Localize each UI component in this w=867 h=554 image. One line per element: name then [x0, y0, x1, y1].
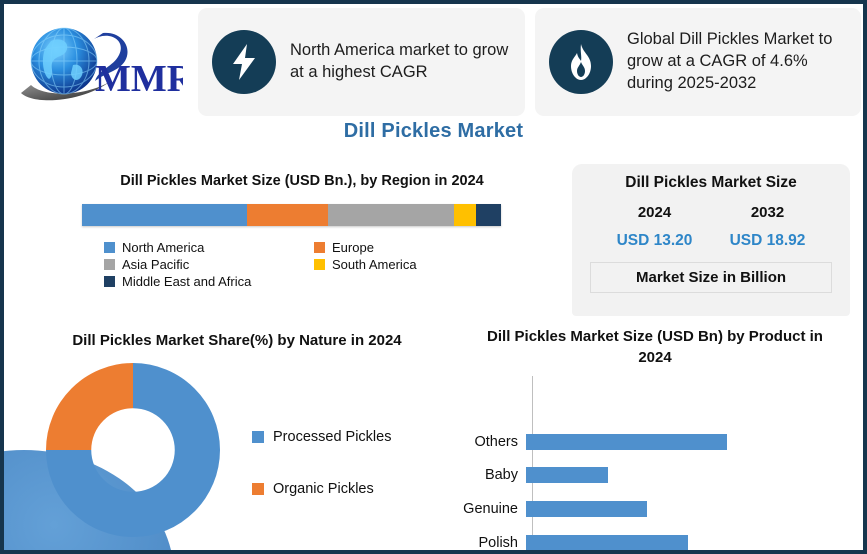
market-size-card: Dill Pickles Market Size 2024 2032 USD 1…: [572, 164, 850, 316]
market-size-unit-note: Market Size in Billion: [590, 262, 832, 293]
header: MMR North America market to grow at a hi…: [10, 8, 861, 116]
bar-segment-south-america: [454, 204, 476, 226]
legend-item-processed-pickles: Processed Pickles: [252, 429, 391, 445]
legend-item-asia-pacific: Asia Pacific: [104, 257, 314, 272]
legend-swatch-organic-pickles: [252, 483, 264, 495]
product-label-polish: Polish: [446, 536, 526, 551]
legend-item-north-america: North America: [104, 240, 314, 255]
product-value-axis: [532, 376, 533, 554]
fact-text-cagr: Global Dill Pickles Market to grow at a …: [627, 29, 849, 94]
region-chart-title: Dill Pickles Market Size (USD Bn.), by R…: [56, 172, 548, 192]
market-size-values: USD 13.20 USD 18.92: [572, 232, 850, 250]
market-size-card-title: Dill Pickles Market Size: [572, 174, 850, 192]
product-bar-genuine: [526, 501, 647, 517]
legend-label-north-america: North America: [122, 240, 204, 255]
product-bar-others: [526, 434, 727, 450]
donut-slice-organic-pickles: [46, 363, 133, 450]
legend-swatch-europe: [314, 242, 325, 253]
legend-label-organic-pickles: Organic Pickles: [273, 481, 374, 497]
bar-segment-middle-east-and-africa: [476, 204, 501, 226]
product-bar-polish: [526, 535, 688, 551]
product-row-baby: Baby: [446, 467, 864, 483]
product-bar-baby: [526, 467, 608, 483]
product-label-baby: Baby: [446, 468, 526, 483]
nature-share-chart-title: Dill Pickles Market Share(%) by Nature i…: [22, 330, 452, 351]
market-size-value-2032: USD 18.92: [730, 232, 806, 250]
nature-share-chart: Dill Pickles Market Share(%) by Nature i…: [22, 330, 452, 543]
legend-label-processed-pickles: Processed Pickles: [273, 429, 391, 445]
lightning-bolt-icon: [212, 30, 276, 94]
market-size-years: 2024 2032: [572, 204, 850, 221]
legend-item-europe: Europe: [314, 240, 504, 255]
legend-swatch-asia-pacific: [104, 259, 115, 270]
nature-share-legend: Processed Pickles Organic Pickles: [252, 429, 391, 497]
product-label-others: Others: [446, 435, 526, 450]
product-row-genuine: Genuine: [446, 501, 864, 517]
legend-item-organic-pickles: Organic Pickles: [252, 481, 391, 497]
logo-text: MMR: [95, 58, 183, 100]
donut-chart-graphic: [38, 357, 228, 543]
legend-swatch-middle-east-and-africa: [104, 276, 115, 287]
product-size-chart: Dill Pickles Market Size (USD Bn) by Pro…: [446, 326, 864, 554]
fact-text-north-america: North America market to grow at a highes…: [290, 40, 513, 84]
globe-icon: MMR: [15, 19, 183, 105]
legend-item-middle-east-and-africa: Middle East and Africa: [104, 274, 314, 289]
legend-label-europe: Europe: [332, 240, 374, 255]
legend-swatch-processed-pickles: [252, 431, 264, 443]
product-row-others: Others: [446, 434, 864, 450]
legend-label-asia-pacific: Asia Pacific: [122, 257, 189, 272]
legend-label-south-america: South America: [332, 257, 417, 272]
market-size-value-2024: USD 13.20: [617, 232, 693, 250]
legend-label-middle-east-and-africa: Middle East and Africa: [122, 274, 251, 289]
infographic-canvas: MMR North America market to grow at a hi…: [0, 0, 867, 554]
product-row-polish: Polish: [446, 535, 864, 551]
bar-segment-north-america: [82, 204, 247, 226]
product-label-genuine: Genuine: [446, 502, 526, 517]
product-size-chart-title: Dill Pickles Market Size (USD Bn) by Pro…: [446, 326, 864, 368]
market-size-year-2032: 2032: [751, 204, 784, 221]
legend-item-south-america: South America: [314, 257, 504, 272]
region-legend: North America Europe Asia Pacific South …: [104, 240, 504, 289]
fact-card-cagr: Global Dill Pickles Market to grow at a …: [535, 8, 861, 116]
legend-swatch-south-america: [314, 259, 325, 270]
bar-segment-europe: [247, 204, 328, 226]
product-size-plot: Others Baby Genuine Polish Kosher: [446, 376, 864, 554]
market-size-year-2024: 2024: [638, 204, 671, 221]
bar-segment-asia-pacific: [328, 204, 454, 226]
fact-card-north-america: North America market to grow at a highes…: [198, 8, 525, 116]
page-title: Dill Pickles Market: [4, 120, 863, 143]
flame-icon: [549, 30, 613, 94]
legend-swatch-north-america: [104, 242, 115, 253]
region-stacked-bar: [82, 204, 501, 226]
region-chart: Dill Pickles Market Size (USD Bn.), by R…: [56, 172, 548, 289]
brand-logo: MMR: [10, 8, 188, 116]
